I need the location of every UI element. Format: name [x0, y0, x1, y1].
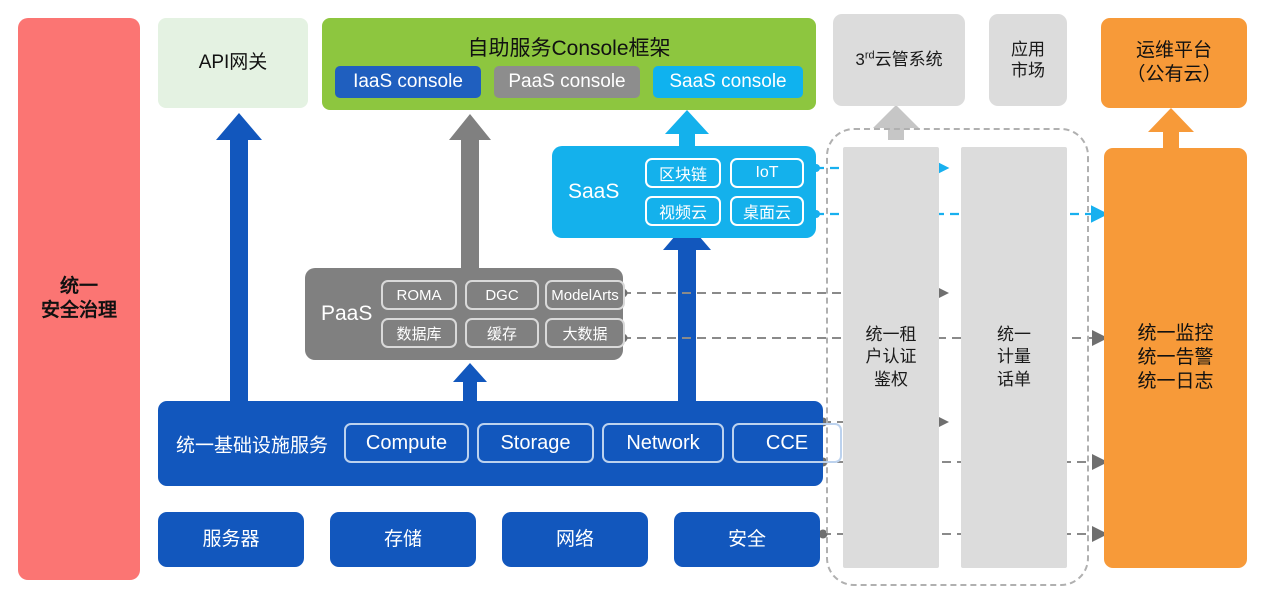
infra-chip-compute-label: Compute [366, 432, 447, 455]
saas-console-chip[interactable]: SaaS console [653, 66, 803, 98]
console-frame-title: 自助服务Console框架 [322, 32, 816, 62]
paas-chip-roma-label: ROMA [397, 287, 442, 304]
paas-chip-database[interactable]: 数据库 [381, 318, 457, 348]
saas-chip-desktop-cloud-label: 桌面云 [743, 199, 791, 223]
infra-chip-compute[interactable]: Compute [344, 423, 469, 463]
monitoring-line-3: 统一日志 [1137, 370, 1213, 394]
third-party-rest: 云管系统 [875, 50, 943, 69]
metering-line-1: 统一 [997, 324, 1031, 346]
self-service-console-frame[interactable]: 自助服务Console框架 IaaS console PaaS console … [322, 18, 816, 110]
arrow-infra-to-saas [663, 222, 711, 408]
ops-platform-box[interactable]: 运维平台 （公有云） [1101, 18, 1247, 108]
infra-chip-cce[interactable]: CCE [732, 423, 842, 463]
paas-chip-dgc[interactable]: DGC [465, 280, 539, 310]
tenant-auth-line-1: 统一租 [866, 324, 917, 346]
saas-block[interactable]: SaaS 区块链 IoT 视频云 桌面云 [552, 146, 816, 238]
resource-box-storage[interactable]: 存储 [330, 512, 476, 567]
resource-box-network[interactable]: 网络 [502, 512, 648, 567]
paas-chip-bigdata[interactable]: 大数据 [545, 318, 625, 348]
unified-infrastructure-bar[interactable]: 统一基础设施服务 Compute Storage Network CCE [158, 401, 823, 486]
infra-chip-network-label: Network [626, 432, 699, 455]
saas-chip-video-cloud-label: 视频云 [659, 199, 707, 223]
ops-platform-line-2: （公有云） [1126, 63, 1221, 87]
saas-chip-iot-label: IoT [755, 164, 778, 182]
api-gateway-label: API网关 [199, 51, 268, 75]
infra-bar-label: 统一基础设施服务 [176, 430, 328, 457]
paas-chip-cache[interactable]: 缓存 [465, 318, 539, 348]
architecture-diagram: 统一 安全治理 API网关 自助服务Console框架 IaaS console… [0, 0, 1265, 605]
app-market-line-2: 市场 [1011, 60, 1045, 81]
resource-storage-label: 存储 [384, 528, 422, 552]
third-party-label: 3rd云管系统 [855, 49, 942, 70]
infra-chip-network[interactable]: Network [602, 423, 724, 463]
paas-chip-roma[interactable]: ROMA [381, 280, 457, 310]
saas-chip-iot[interactable]: IoT [730, 158, 804, 188]
unified-security-governance-panel[interactable]: 统一 安全治理 [18, 18, 140, 580]
governance-line-2: 安全治理 [41, 299, 117, 323]
resource-security-label: 安全 [728, 528, 766, 552]
paas-chip-modelarts[interactable]: ModelArts [545, 280, 625, 310]
paas-console-chip[interactable]: PaaS console [494, 66, 640, 98]
arrow-infra-to-apigateway [216, 113, 262, 408]
saas-chip-blockchain-label: 区块链 [659, 161, 707, 185]
resource-server-label: 服务器 [202, 528, 259, 552]
metering-line-2: 计量 [997, 346, 1031, 368]
infra-chip-storage[interactable]: Storage [477, 423, 594, 463]
saas-chip-video-cloud[interactable]: 视频云 [645, 196, 721, 226]
infra-chip-storage-label: Storage [500, 432, 570, 455]
app-market-line-1: 应用 [1011, 39, 1045, 60]
third-party-ordinal-sup: rd [865, 50, 875, 62]
governance-line-1: 统一 [60, 275, 98, 299]
paas-block[interactable]: PaaS ROMA DGC ModelArts 数据库 缓存 大数据 [305, 268, 623, 360]
paas-chip-database-label: 数据库 [396, 323, 441, 344]
tenant-auth-line-2: 户认证 [866, 346, 917, 368]
arrow-monitoring-to-ops [1148, 108, 1194, 148]
ops-platform-line-1: 运维平台 [1136, 39, 1212, 63]
arrow-paas-to-console [449, 114, 491, 270]
paas-console-label: PaaS console [508, 71, 625, 93]
unified-tenant-auth-column[interactable]: 统一租 户认证 鉴权 [843, 147, 939, 568]
paas-chip-cache-label: 缓存 [487, 323, 517, 344]
metering-line-3: 话单 [997, 369, 1031, 391]
app-market-box[interactable]: 应用 市场 [989, 14, 1067, 106]
api-gateway-box[interactable]: API网关 [158, 18, 308, 108]
iaas-console-chip[interactable]: IaaS console [335, 66, 481, 98]
saas-chip-blockchain[interactable]: 区块链 [645, 158, 721, 188]
third-party-cloud-mgmt-box[interactable]: 3rd云管系统 [833, 14, 965, 106]
paas-chip-dgc-label: DGC [485, 287, 518, 304]
tenant-auth-line-3: 鉴权 [874, 369, 908, 391]
arrow-saas-to-saasconsole [665, 110, 709, 148]
resource-box-server[interactable]: 服务器 [158, 512, 304, 567]
iaas-console-label: IaaS console [353, 71, 463, 93]
saas-block-label: SaaS [568, 180, 619, 204]
saas-chip-desktop-cloud[interactable]: 桌面云 [730, 196, 804, 226]
paas-chip-modelarts-label: ModelArts [551, 287, 619, 304]
resource-network-label: 网络 [556, 528, 594, 552]
paas-block-label: PaaS [321, 302, 372, 326]
unified-monitoring-column[interactable]: 统一监控 统一告警 统一日志 [1104, 148, 1247, 568]
saas-console-label: SaaS console [669, 71, 786, 93]
paas-chip-bigdata-label: 大数据 [562, 323, 607, 344]
resource-box-security[interactable]: 安全 [674, 512, 820, 567]
monitoring-line-1: 统一监控 [1137, 322, 1213, 346]
monitoring-line-2: 统一告警 [1137, 346, 1213, 370]
unified-metering-billing-column[interactable]: 统一 计量 话单 [961, 147, 1067, 568]
infra-chip-cce-label: CCE [766, 432, 808, 455]
